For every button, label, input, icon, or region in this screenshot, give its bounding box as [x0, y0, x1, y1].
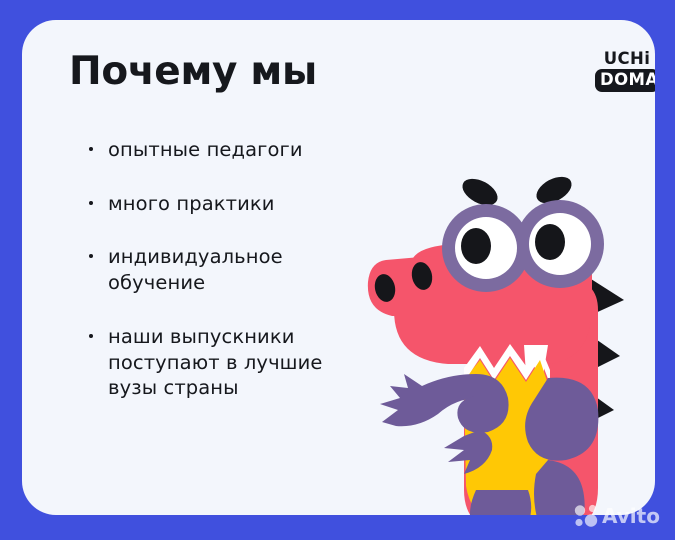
slide-canvas: Почему мы UCHi DOMA опытные педагоги мно…: [0, 0, 675, 540]
bullet-dot-icon: [89, 201, 93, 205]
logo-badge-text: DOMA: [595, 69, 655, 91]
list-item-label: много практики: [108, 192, 275, 215]
dinosaur-mascot: [352, 160, 655, 515]
list-item: индивидуальное обучение: [86, 244, 376, 295]
list-item-label: опытные педагоги: [108, 138, 303, 161]
avito-wordmark: Avito: [602, 504, 660, 528]
list-item: опытные педагоги: [86, 137, 376, 163]
page-title: Почему мы: [69, 52, 317, 91]
avito-watermark: Avito: [572, 502, 664, 530]
content-card: Почему мы UCHi DOMA опытные педагоги мно…: [22, 20, 655, 515]
list-item-label: индивидуальное обучение: [108, 245, 283, 294]
benefits-list: опытные педагоги много практики индивиду…: [86, 137, 376, 401]
list-item: наши выпускники поступают в лучшие вузы …: [86, 324, 376, 401]
bullet-dot-icon: [89, 254, 93, 258]
bullet-dot-icon: [89, 147, 93, 151]
bullet-dot-icon: [89, 334, 93, 338]
logo-top-text: UCHi: [595, 50, 655, 67]
uchi-doma-logo: UCHi DOMA: [595, 50, 655, 92]
list-item: много практики: [86, 191, 376, 217]
list-item-label: наши выпускники поступают в лучшие вузы …: [108, 325, 323, 399]
avito-dots-icon: [575, 505, 597, 527]
